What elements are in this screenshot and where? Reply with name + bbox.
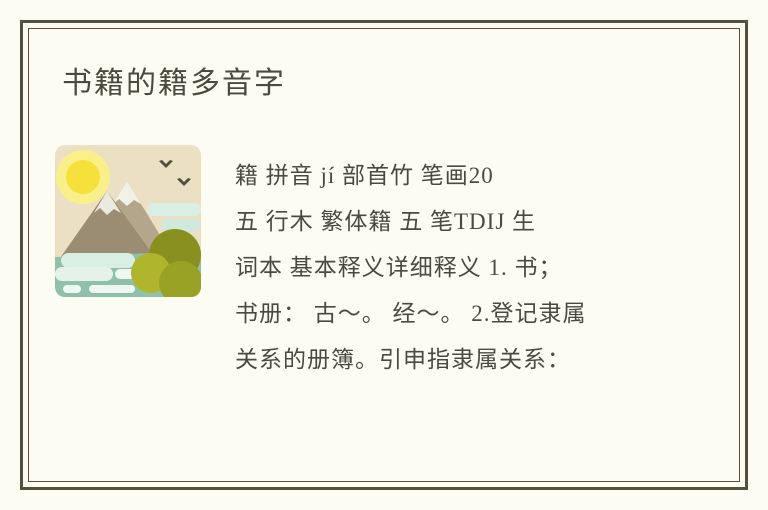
article-line: 词本 基本释义详细释义 1. 书； (235, 245, 665, 291)
article-line: 籍 拼音 jí 部首竹 笔画20 (235, 153, 665, 199)
page-root: 书籍的籍多音字 (0, 0, 768, 510)
wave-1 (61, 253, 135, 268)
mountain-landscape-icon (55, 145, 201, 297)
page-title: 书籍的籍多音字 (62, 64, 286, 104)
wave-5 (89, 285, 135, 293)
sun-core (66, 160, 100, 194)
article-line: 五 行木 繁体籍 五 笔TDIJ 生 (235, 199, 665, 245)
article-line: 关系的册簿。引申指隶属关系： (235, 337, 665, 383)
illustration-thumbnail (55, 145, 201, 297)
content-area: 籍 拼音 jí 部首竹 笔画20 五 行木 繁体籍 五 笔TDIJ 生 词本 基… (55, 145, 675, 405)
wave-4 (63, 285, 81, 293)
cloud-upper (147, 203, 201, 216)
wave-2 (55, 267, 113, 281)
article-line: 书册： 古～。 经～。 2.登记隶属 (235, 291, 665, 337)
cloud-lower (161, 219, 201, 231)
article-body: 籍 拼音 jí 部首竹 笔画20 五 行木 繁体籍 五 笔TDIJ 生 词本 基… (235, 153, 665, 383)
